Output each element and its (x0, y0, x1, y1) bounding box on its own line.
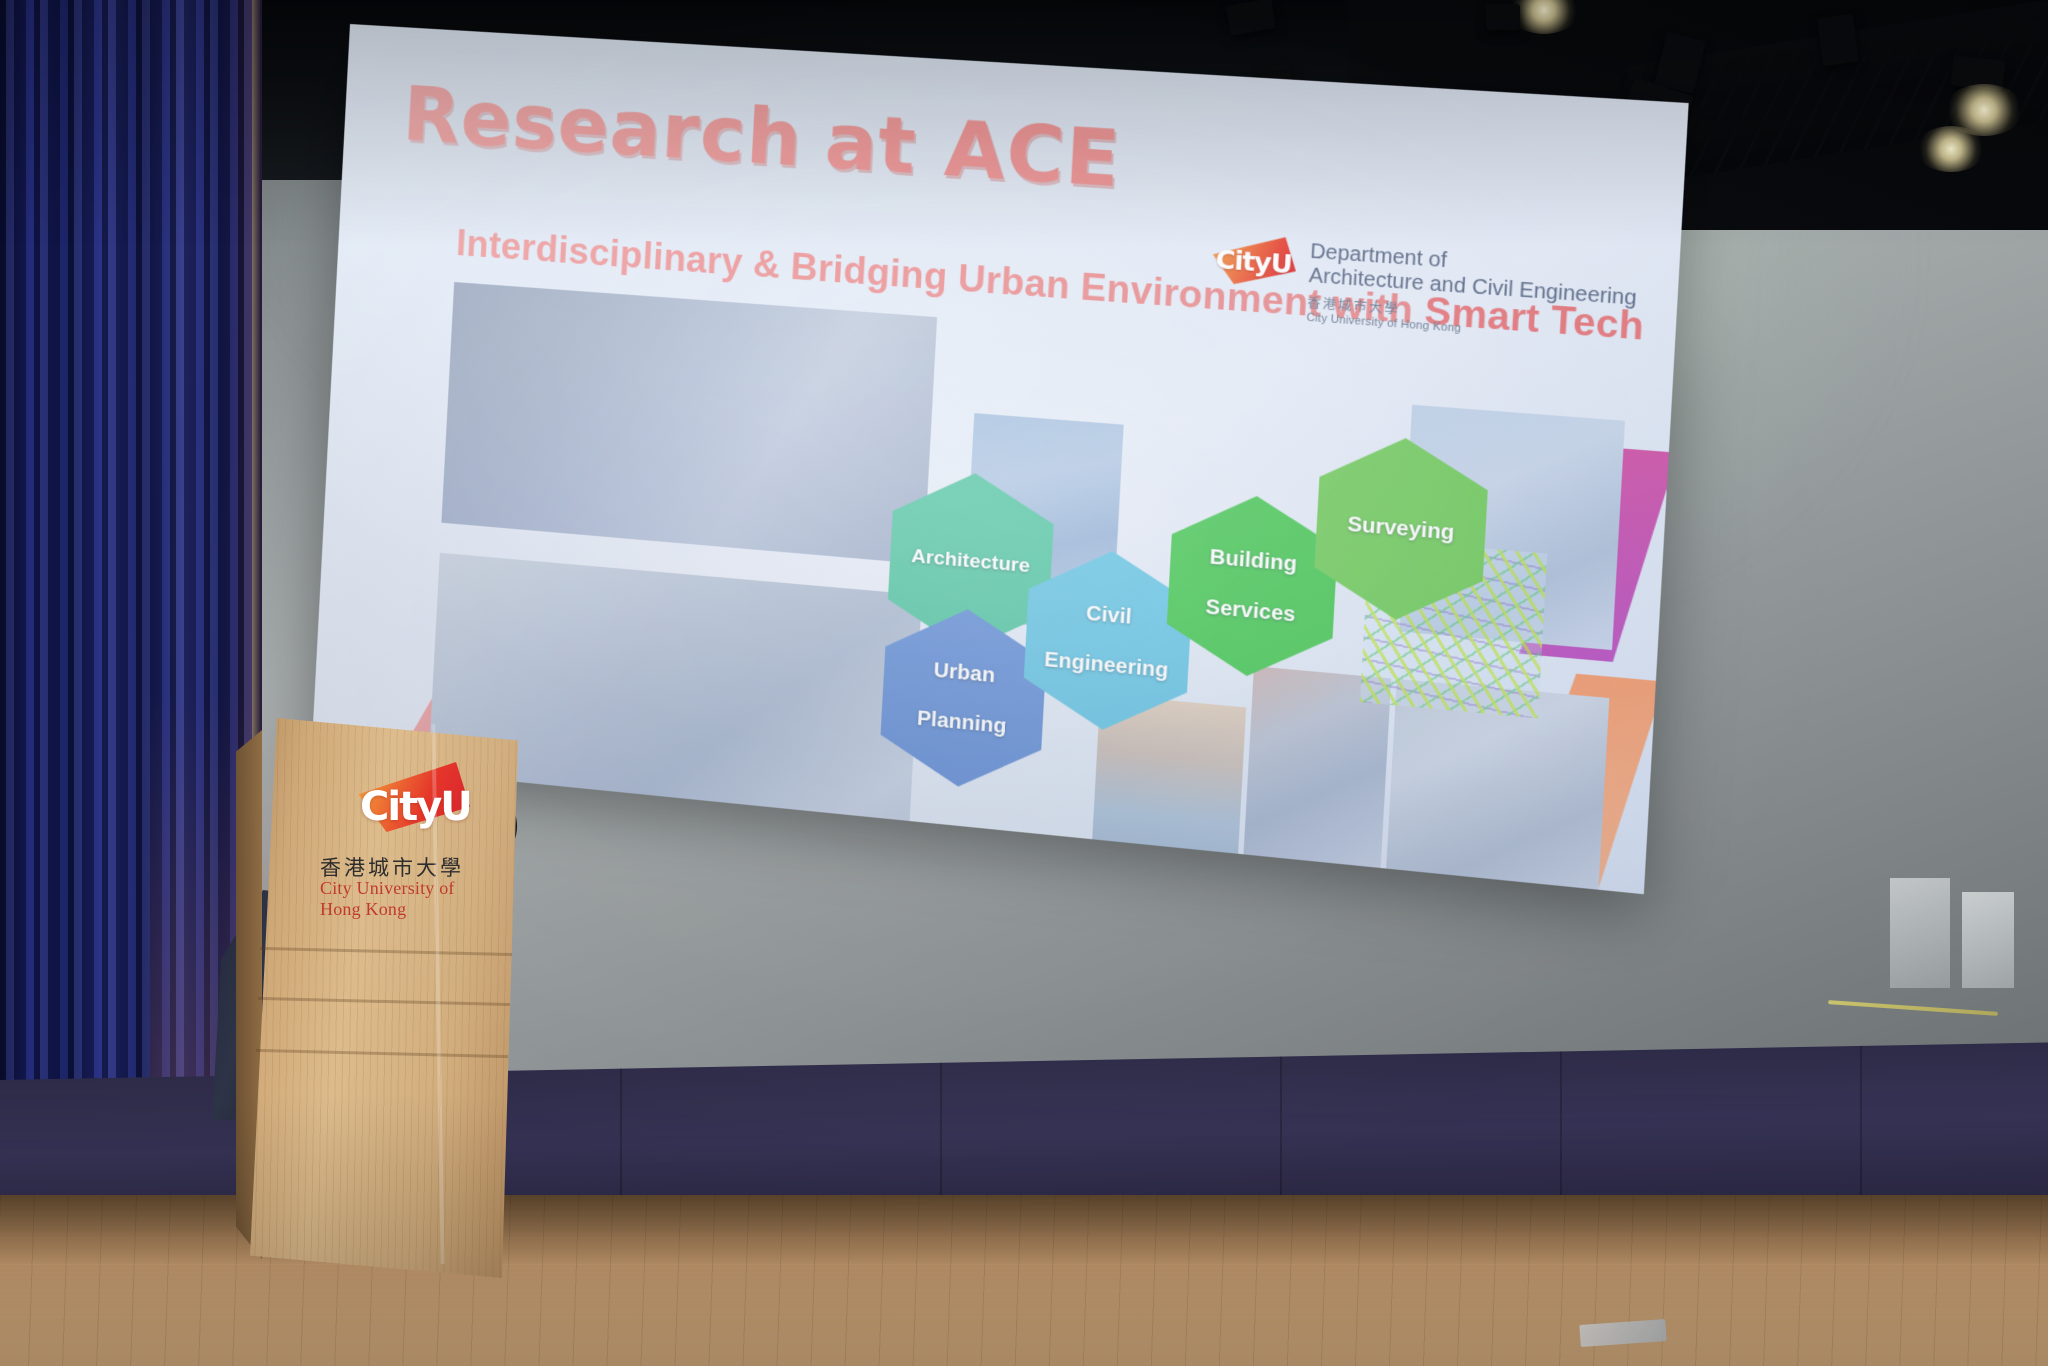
slide-title-word-2: at ACE (823, 102, 1123, 202)
hexagon-urban-planning-label: Urban Planning (904, 656, 1023, 741)
wall-equipment-box (1890, 878, 1950, 988)
slide-title: Researchat ACE (401, 75, 1123, 201)
hexagon-civil-engineering-label: Civil Engineering (1031, 597, 1185, 685)
stage-scene: Researchat ACE Interdisciplinary & Bridg… (0, 0, 2048, 1366)
podium-university-en: City University of Hong Kong (320, 878, 482, 920)
hexagon-building-services-label: Building Services (1192, 544, 1312, 629)
podium-wordmark-u: U (440, 784, 470, 830)
slide-title-word-1: Research (401, 71, 805, 184)
stage-light-5 (1817, 14, 1859, 67)
podium-wordmark-city: City (360, 784, 440, 830)
wall-equipment-box-2 (1962, 892, 2014, 988)
photo-interior-site (441, 282, 937, 564)
hexagon-building-services-line2: Services (1198, 594, 1302, 628)
cityu-logo-icon: CityU (1208, 232, 1298, 288)
hexagon-civil-engineering-line2: Engineering (1037, 647, 1175, 684)
cityu-wordmark-u: U (1270, 248, 1293, 280)
cityu-wordmark: CityU (1215, 244, 1292, 280)
stage-light-2 (1486, 4, 1520, 30)
hexagon-civil-engineering-line1: Civil (1040, 597, 1178, 634)
podium-logo-plate: CityU 香港城市大學 City University of Hong Kon… (292, 764, 482, 904)
hexagon-building-services[interactable]: Building Services (1164, 489, 1340, 683)
hexagon-architecture-label: Architecture (904, 545, 1036, 580)
hexagon-urban-planning-line2: Planning (910, 706, 1013, 740)
department-logo: CityU Department of Architecture and Civ… (1206, 232, 1639, 347)
podium: CityU 香港城市大學 City University of Hong Kon… (236, 700, 536, 1340)
cityu-wordmark-city: City (1215, 244, 1272, 278)
hexagon-building-services-line1: Building (1201, 544, 1305, 578)
stage-light-7-glow (1916, 126, 1986, 172)
hexagon-urban-planning-line1: Urban (913, 656, 1016, 690)
podium-cityu-wordmark: CityU (360, 784, 471, 830)
hexagon-surveying-label: Surveying (1340, 511, 1462, 546)
department-text-block: Department of Architecture and Civil Eng… (1306, 239, 1638, 347)
